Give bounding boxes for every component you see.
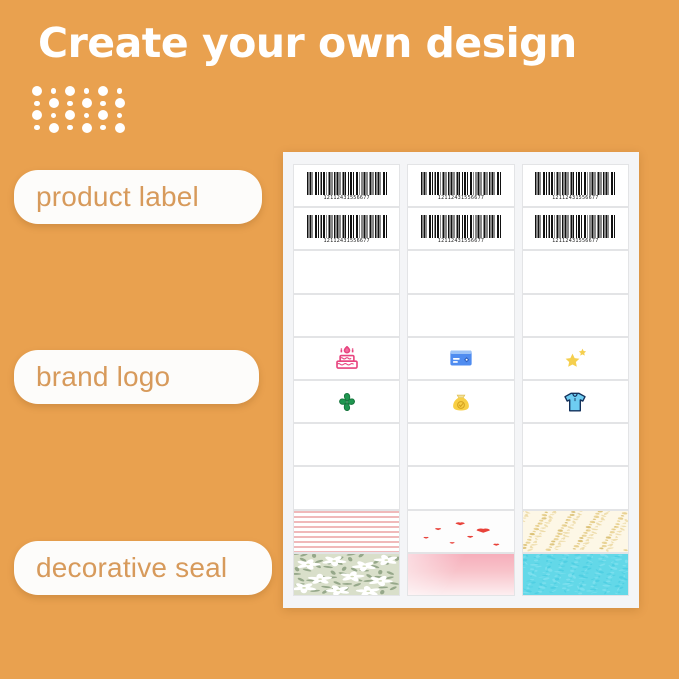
label-cell-icon[interactable] [522, 380, 629, 423]
dot [98, 86, 108, 96]
dot [34, 101, 39, 106]
label-cell-barcode[interactable]: 12112431556677 [293, 207, 400, 250]
dot [84, 88, 89, 93]
credit-card-icon [446, 343, 476, 373]
label-cell-blank[interactable] [407, 423, 514, 466]
barcode-number: 12112431556677 [323, 239, 369, 244]
dot [32, 86, 42, 96]
barcode: 12112431556677 [408, 208, 513, 249]
dot [115, 98, 125, 108]
dot [49, 123, 59, 133]
dot [115, 123, 125, 133]
t-shirt-icon [560, 387, 590, 417]
label-cell-blank[interactable] [522, 294, 629, 337]
barcode-bars [421, 172, 501, 195]
label-cell-blank[interactable] [293, 294, 400, 337]
label-cell-blank[interactable] [293, 466, 400, 509]
dot-grid-decoration [32, 86, 128, 134]
dot [100, 101, 105, 106]
birthday-cake-icon [332, 343, 362, 373]
barcode-bars [307, 215, 387, 238]
dot [82, 123, 92, 133]
barcode-number: 12112431556677 [438, 239, 484, 244]
pill-product-label[interactable]: product label [14, 170, 262, 224]
label-cell-blank[interactable] [293, 250, 400, 293]
barcode: 12112431556677 [523, 165, 628, 206]
label-grid: 1211243155667712112431556677121124315566… [293, 164, 629, 596]
label-cell-blank[interactable] [522, 423, 629, 466]
dot [100, 125, 105, 130]
pill-decorative-seal-text: decorative seal [36, 552, 227, 584]
barcode-number: 12112431556677 [323, 196, 369, 201]
pill-brand-logo[interactable]: brand logo [14, 350, 259, 404]
barcode: 12112431556677 [294, 208, 399, 249]
dot [32, 110, 42, 120]
barcode-number: 12112431556677 [552, 196, 598, 201]
barcode-bars [535, 215, 615, 238]
barcode: 12112431556677 [408, 165, 513, 206]
label-cell-icon[interactable] [522, 337, 629, 380]
pill-product-label-text: product label [36, 181, 199, 213]
label-cell-pattern[interactable] [293, 510, 400, 553]
dot [67, 125, 72, 130]
pattern-red-hearts [408, 511, 513, 552]
barcode-bars [535, 172, 615, 195]
label-cell-blank[interactable] [407, 250, 514, 293]
pattern-gold-floral [523, 511, 628, 552]
label-cell-barcode[interactable]: 12112431556677 [522, 164, 629, 207]
dot [49, 98, 59, 108]
barcode: 12112431556677 [523, 208, 628, 249]
label-cell-icon[interactable] [407, 380, 514, 423]
label-cell-barcode[interactable]: 12112431556677 [407, 164, 514, 207]
dot [98, 110, 108, 120]
dot [82, 98, 92, 108]
label-cell-pattern[interactable] [522, 553, 629, 596]
barcode-number: 12112431556677 [552, 239, 598, 244]
label-cell-pattern[interactable] [407, 510, 514, 553]
page-title: Create your own design [38, 19, 577, 67]
dot [51, 88, 56, 93]
label-cell-barcode[interactable]: 12112431556677 [407, 207, 514, 250]
page-background: Create your own design product label bra… [0, 0, 679, 679]
label-cell-blank[interactable] [522, 466, 629, 509]
dot [117, 88, 122, 93]
pattern-pink-gradient [408, 554, 513, 595]
dot [117, 113, 122, 118]
pattern-pink-stripes [294, 511, 399, 552]
pill-brand-logo-text: brand logo [36, 361, 170, 393]
barcode-bars [307, 172, 387, 195]
barcode-number: 12112431556677 [438, 196, 484, 201]
pill-decorative-seal[interactable]: decorative seal [14, 541, 272, 595]
label-cell-blank[interactable] [407, 466, 514, 509]
label-cell-pattern[interactable] [522, 510, 629, 553]
label-cell-blank[interactable] [407, 294, 514, 337]
four-leaf-clover-icon [332, 387, 362, 417]
label-cell-icon[interactable] [293, 380, 400, 423]
dot [65, 110, 75, 120]
dot [84, 113, 89, 118]
pattern-teal-texture [523, 554, 628, 595]
label-cell-pattern[interactable] [293, 553, 400, 596]
label-cell-pattern[interactable] [407, 553, 514, 596]
pattern-green-floral [294, 554, 399, 595]
label-cell-blank[interactable] [293, 423, 400, 466]
label-cell-barcode[interactable]: 12112431556677 [522, 207, 629, 250]
barcode-bars [421, 215, 501, 238]
label-sheet: 1211243155667712112431556677121124315566… [283, 152, 639, 608]
money-bag-icon [446, 387, 476, 417]
label-cell-icon[interactable] [293, 337, 400, 380]
label-cell-icon[interactable] [407, 337, 514, 380]
stars-icon [560, 343, 590, 373]
label-cell-barcode[interactable]: 12112431556677 [293, 164, 400, 207]
barcode: 12112431556677 [294, 165, 399, 206]
dot [67, 101, 72, 106]
label-cell-blank[interactable] [522, 250, 629, 293]
dot [65, 86, 75, 96]
dot [34, 125, 39, 130]
dot [51, 113, 56, 118]
